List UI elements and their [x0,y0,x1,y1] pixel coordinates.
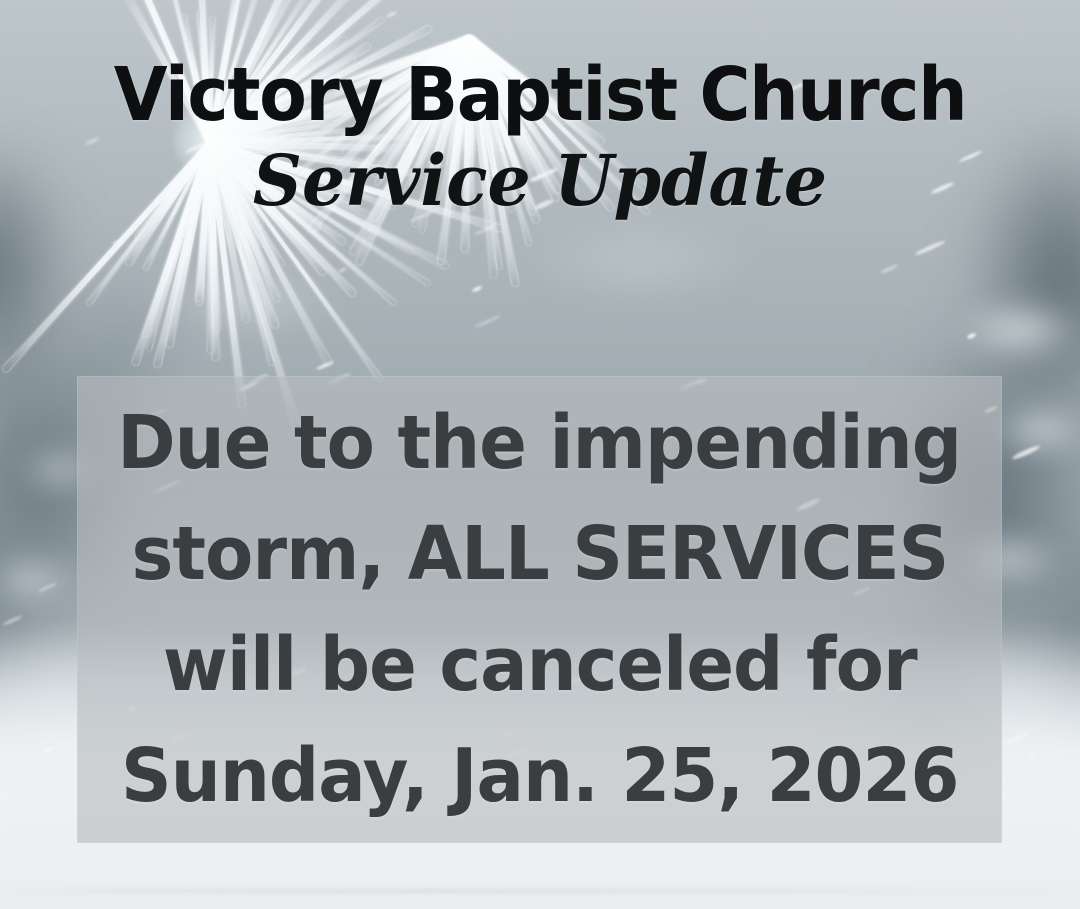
message-line: storm, ALL SERVICES [131,499,948,610]
message-panel: Due to the impending storm, ALL SERVICES… [77,376,1002,843]
message-line: will be canceled for [163,610,917,721]
snowflake [1004,731,1029,746]
message-line: Due to the impending [118,388,962,499]
announcement-poster: Victory Baptist Church Service Update Du… [0,0,1080,909]
message-line: Sunday, Jan. 25, 2026 [121,721,958,832]
snowflake [1011,444,1040,461]
snowflake [880,263,898,274]
subtitle: Service Update [16,146,1064,216]
snowflake [3,615,23,626]
page-title: Victory Baptist Church [32,58,1047,132]
snowflake [37,582,57,594]
snowflake [43,747,52,753]
snowflake [914,240,944,256]
poster-header: Victory Baptist Church Service Update [0,58,1080,216]
snowflake [966,333,975,340]
snowflake [1028,752,1035,758]
